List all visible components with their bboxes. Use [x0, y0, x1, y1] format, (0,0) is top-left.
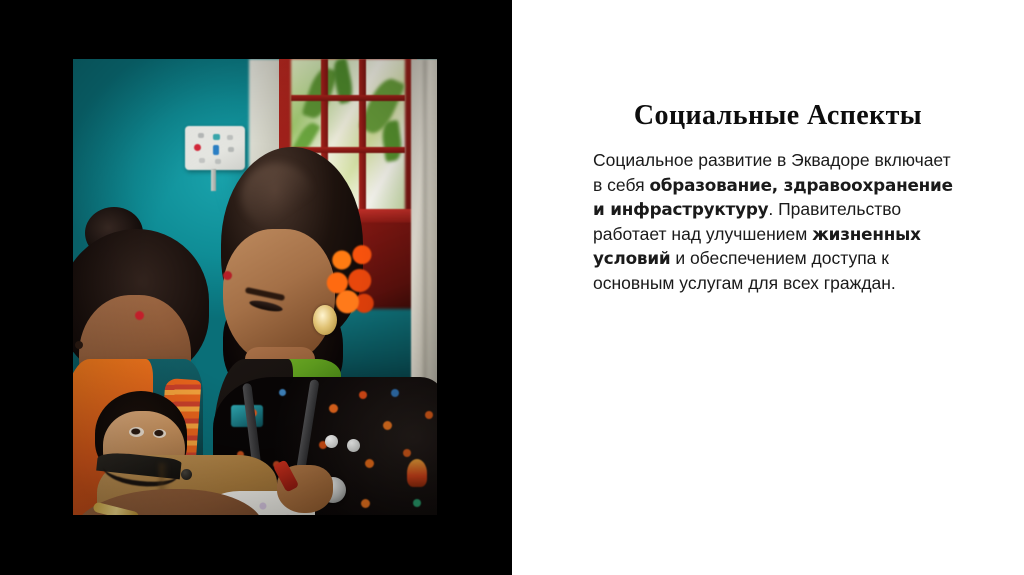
switch-toggle — [213, 145, 219, 155]
photo-healthworker-hair-sheen — [241, 163, 313, 229]
photo-jacket-print — [383, 421, 392, 430]
photo-switchboard — [185, 126, 245, 170]
photo-window-mullion — [291, 95, 405, 101]
slide: Социальные Аспекты Социальное развитие в… — [0, 0, 1024, 575]
photo-jacket-print — [391, 389, 399, 397]
photo-jacket-print — [365, 459, 374, 468]
photo-baby-eye — [129, 427, 144, 437]
switch-toggle — [198, 133, 204, 138]
photo-jacket-print — [329, 404, 338, 413]
photo-jacket-print — [403, 449, 411, 457]
content-panel: Социальные Аспекты Социальное развитие в… — [512, 0, 1024, 575]
photo-curtain-fold — [423, 59, 427, 389]
switch-toggle — [213, 134, 220, 140]
photo-stethoscope-eartip — [325, 435, 338, 448]
photo-baby-button — [181, 469, 192, 480]
photo-stethoscope-eartip — [347, 439, 360, 452]
photo-jacket-print — [279, 389, 286, 396]
photo-jacket-print — [361, 499, 370, 508]
switch-toggle — [199, 158, 205, 163]
photo-jacket-print — [359, 391, 367, 399]
photo-window-mullion — [359, 59, 366, 211]
body-paragraph: Социальное развитие в Эквадоре включает … — [593, 148, 953, 296]
photo-health-worker-mother-baby — [73, 59, 437, 515]
photo-baby-eye — [153, 429, 166, 438]
photo-jacket-print — [425, 411, 433, 419]
page-title: Социальные Аспекты — [593, 99, 963, 133]
photo-jacket-print-lamp — [407, 459, 427, 487]
switch-toggle — [228, 147, 234, 152]
photo-jacket-print — [413, 499, 421, 507]
photo-flower-garland — [325, 241, 381, 317]
photo-mother-bindi — [135, 311, 144, 320]
photo-mother-earring — [75, 341, 83, 349]
switch-indicator — [194, 144, 201, 151]
photo-conduit — [211, 169, 216, 191]
switch-toggle — [215, 159, 221, 164]
switch-toggle — [227, 135, 233, 140]
photo-healthworker-bindi — [223, 271, 232, 280]
left-black-panel — [0, 0, 512, 575]
